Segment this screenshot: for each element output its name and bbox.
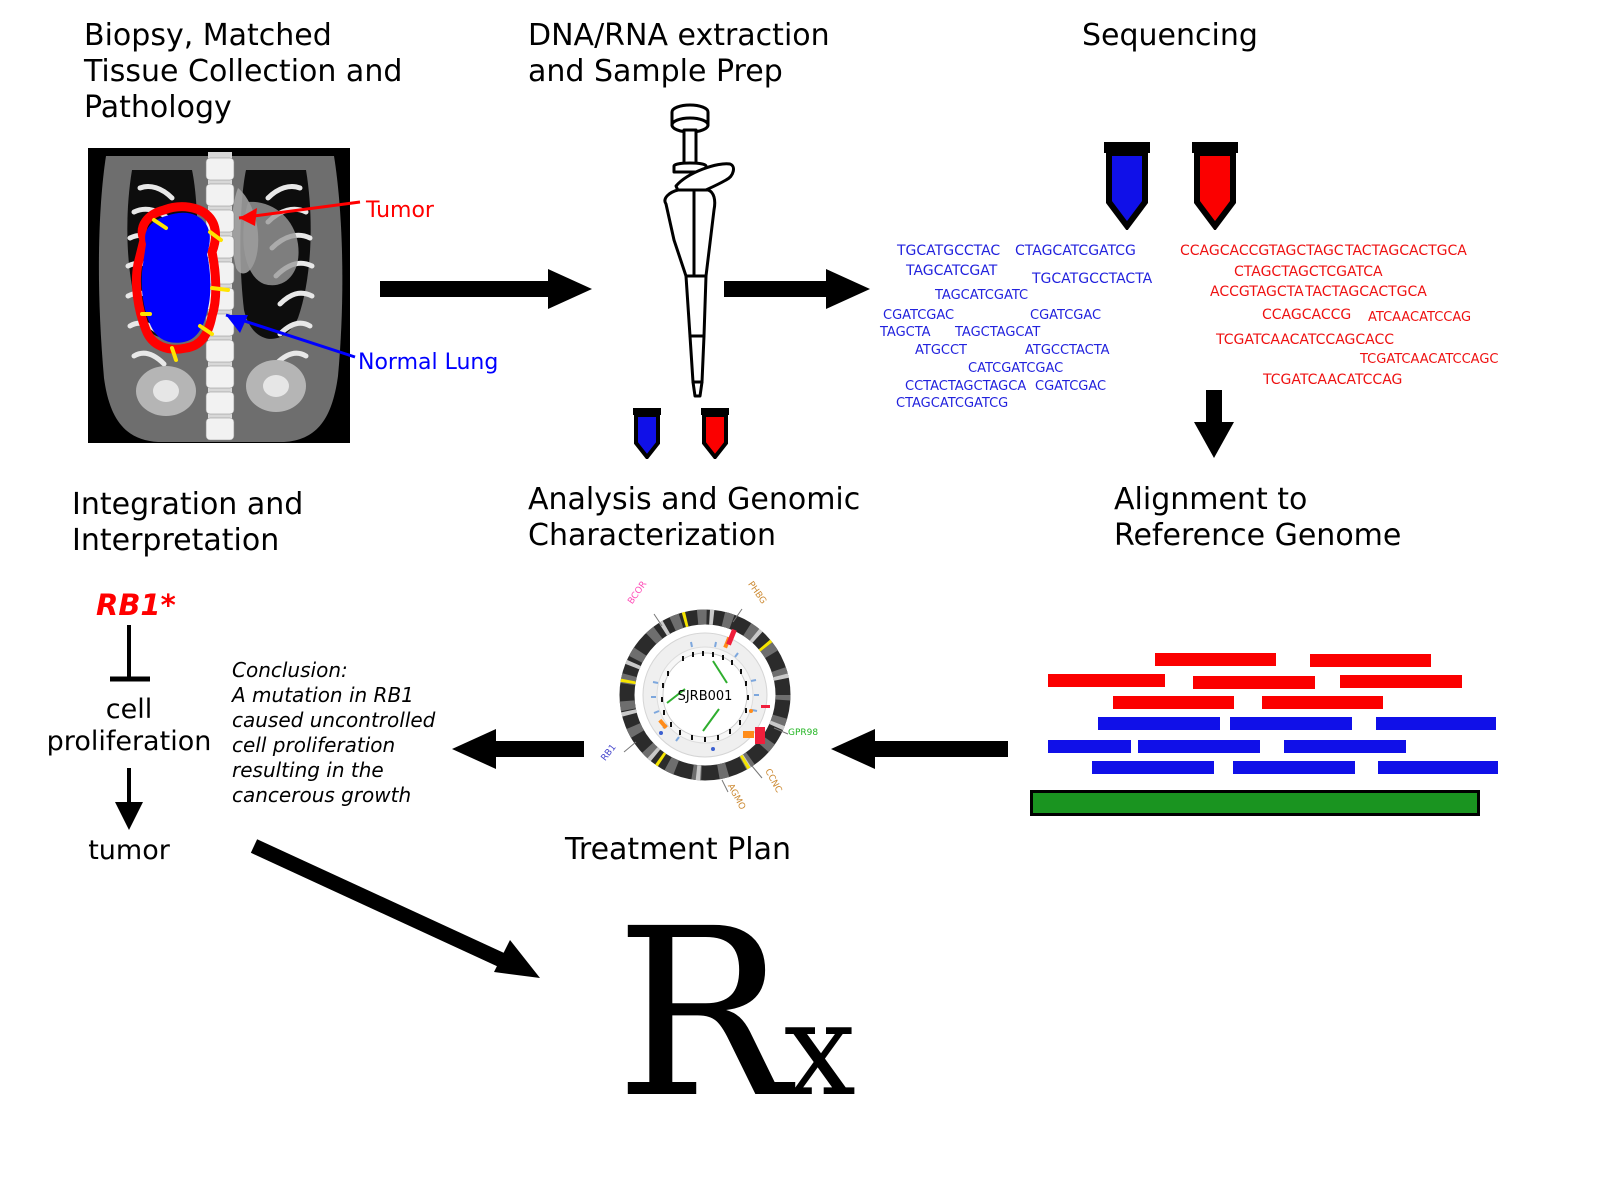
seq-read: CCAGCACCGTAGCTAGC [1180, 243, 1344, 259]
read-bar-red [1310, 654, 1431, 667]
read-bar-red [1340, 675, 1462, 688]
seq-read: CCTACTAGCTAGCA [905, 379, 1026, 394]
seq-read: CATCGATCGAC [968, 361, 1063, 376]
heading-integration: Integration and Interpretation [72, 487, 303, 559]
inhibition-connector [108, 625, 168, 695]
arrow-extraction-to-sequencing [722, 268, 872, 310]
pathway-gene-rb1: RB1* [96, 588, 176, 622]
seq-read: TCGATCAACATCCAG [1263, 372, 1402, 388]
sample-tube-blue-small [632, 407, 662, 459]
heading-extraction: DNA/RNA extraction and Sample Prep [528, 18, 830, 90]
heading-alignment: Alignment to Reference Genome [1114, 482, 1401, 554]
read-bar-blue [1092, 761, 1214, 774]
seq-read: CTAGCATCGATCG [1015, 243, 1136, 259]
seq-read: TAGCTAGCAT [955, 325, 1040, 340]
sequence-reads-blue: TGCATGCCTAC CTAGCATCGATCG TAGCATCGAT TGC… [880, 240, 1160, 400]
read-bar-blue [1284, 740, 1406, 753]
rx-prescription-symbol: Rx [615, 898, 850, 1167]
heading-sequencing: Sequencing [1082, 18, 1258, 54]
read-bar-red [1048, 674, 1165, 687]
sequencing-tube-red [1190, 140, 1240, 230]
read-bar-blue [1378, 761, 1498, 774]
seq-read: CTAGCTAGCTCGATCA [1234, 264, 1383, 280]
tumor-label: Tumor [366, 199, 434, 223]
seq-read: TAGCATCGATC [935, 288, 1028, 303]
arrow-integration-to-treatment [248, 840, 548, 1000]
seq-read: CGATCGAC [1035, 379, 1106, 394]
arrow-biopsy-to-extraction [378, 268, 596, 310]
arrow-analysis-to-integration [446, 728, 586, 770]
seq-read: TAGCATCGAT [906, 263, 997, 279]
seq-read: TGCATGCCTAC [897, 243, 1000, 259]
read-bar-blue [1048, 740, 1131, 753]
seq-read: ATGCCT [915, 343, 967, 358]
read-bar-blue [1138, 740, 1260, 753]
sequencing-tube-blue [1102, 140, 1152, 230]
read-bar-red [1113, 696, 1234, 709]
read-bar-blue [1376, 717, 1496, 730]
arrow-alignment-to-analysis [825, 728, 1010, 770]
tumor-pointer-arrow [205, 196, 365, 236]
svg-text:SJRB001: SJRB001 [678, 689, 733, 704]
reference-genome-bar [1030, 790, 1480, 816]
seq-read: TACTAGCACTGCA [1345, 243, 1467, 259]
heading-biopsy: Biopsy, Matched Tissue Collection and Pa… [84, 18, 402, 126]
ct-scan-image [88, 148, 350, 443]
sample-tube-red-small [700, 407, 730, 459]
seq-read: ACCGTAGCTA [1210, 284, 1304, 300]
seq-read: CGATCGAC [1030, 308, 1101, 323]
seq-read: TAGCTA [880, 325, 931, 340]
read-bar-blue [1098, 717, 1220, 730]
seq-read: ATCAACATCCAG [1368, 310, 1471, 325]
seq-read: TCGATCAACATCCAGC [1360, 352, 1499, 367]
circos-gene-label-gpr98: GPR98 [788, 728, 818, 738]
read-bar-red [1155, 653, 1276, 666]
pathway-node-tumor: tumor [29, 835, 229, 867]
read-bar-blue [1230, 717, 1352, 730]
seq-read: CTAGCATCGATCG [896, 396, 1008, 411]
read-bar-red [1193, 676, 1315, 689]
normal-lung-pointer-arrow [200, 305, 360, 365]
seq-read: TACTAGCACTGCA [1305, 284, 1427, 300]
heading-analysis: Analysis and Genomic Characterization [528, 482, 860, 554]
rx-letter-r: R [615, 879, 784, 1149]
heading-treatment: Treatment Plan [565, 832, 791, 868]
read-bar-red [1262, 696, 1383, 709]
rx-letter-x: x [784, 976, 850, 1125]
micropipette-illustration [630, 100, 750, 404]
seq-read: TGCATGCCTACTA [1032, 271, 1152, 287]
arrow-proliferation-to-tumor [108, 768, 168, 834]
circos-plot: SJRB001 BCOR PHBG GPR98 CCNC AGMO RB1 [592, 582, 818, 808]
read-bar-blue [1233, 761, 1355, 774]
seq-read: CGATCGAC [883, 308, 954, 323]
sequence-reads-red: CCAGCACCGTAGCTAGC TACTAGCACTGCA CTAGCTAG… [1150, 240, 1470, 400]
conclusion-text: Conclusion: A mutation in RB1 caused unc… [232, 658, 452, 808]
seq-read: ATGCCTACTA [1025, 343, 1110, 358]
normal-lung-label: Normal Lung [358, 351, 498, 375]
arrow-sequencing-to-alignment [1192, 388, 1236, 460]
seq-read: CCAGCACCG [1262, 307, 1351, 323]
seq-read: TCGATCAACATCCAGCACC [1216, 332, 1394, 348]
pathway-node-proliferation: cell proliferation [29, 694, 229, 758]
